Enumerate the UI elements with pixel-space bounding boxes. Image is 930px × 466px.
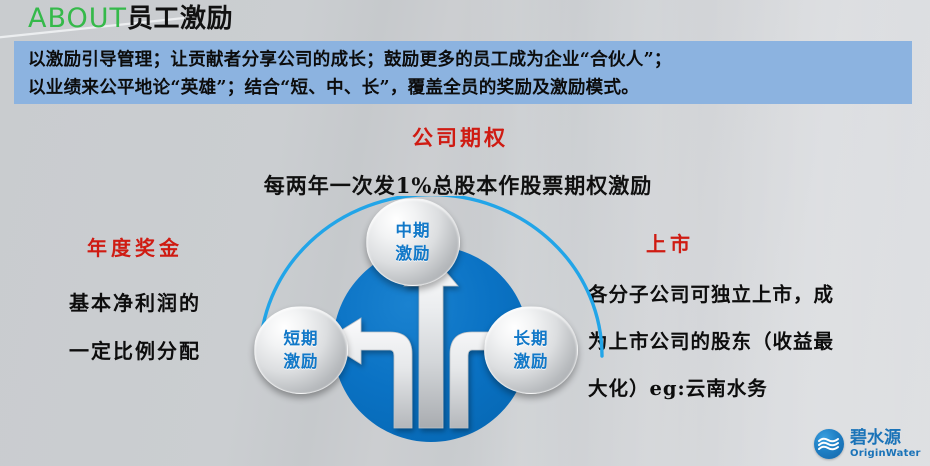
node-long-term-incentive[interactable]: 长期 激励 [484,306,578,394]
node-short-term-line-2: 激励 [284,350,319,373]
brand-name-cn: 碧水源 [850,430,921,447]
left-column-line-2: 一定比例分配 [20,327,250,375]
wave-glyph [818,437,840,452]
statement-panel: 以激励引导管理；让贡献者分享公司的成长；鼓励更多的员工成为企业“合伙人”； 以业… [14,41,912,104]
right-column-line-1: 各分子公司可独立上市，成 [588,271,918,318]
node-mid-term-line-1: 中期 [396,219,431,242]
left-column-line-1: 基本净利润的 [20,279,250,327]
left-column-heading: 年度奖金 [20,232,250,261]
brand-name-en: OriginWater [850,449,921,459]
node-long-term-line-2: 激励 [514,350,549,373]
node-short-term-line-1: 短期 [284,327,319,350]
node-short-term-incentive[interactable]: 短期 激励 [254,306,348,394]
incentive-diagram: 中期 激励 短期 激励 长期 激励 [236,196,626,456]
right-column-line-2: 为上市公司的股东（收益最 [588,318,918,365]
node-long-term-line-1: 长期 [514,327,549,350]
statement-line-2: 以业绩来公平地论“英雄”；结合“短、中、长”，覆盖全员的奖励及激励模式。 [28,74,898,102]
page-title-en: ABOUT [28,3,127,34]
page-title: ABOUT员工激励 [28,2,233,36]
statement-line-1: 以激励引导管理；让贡献者分享公司的成长；鼓励更多的员工成为企业“合伙人”； [28,46,898,74]
left-column: 年度奖金 基本净利润的 一定比例分配 [20,232,250,375]
water-wave-icon [814,429,844,459]
node-mid-term-incentive[interactable]: 中期 激励 [366,198,460,286]
brand-wordmark: 碧水源 OriginWater [850,430,921,459]
page-title-cn: 员工激励 [127,4,233,34]
right-column-heading: 上市 [646,228,918,257]
right-column: 上市 各分子公司可独立上市，成 为上市公司的股东（收益最 大化）eg:云南水务 [588,228,918,412]
center-heading: 公司期权 [0,122,930,152]
right-column-line-3: 大化）eg:云南水务 [588,365,918,412]
node-mid-term-line-2: 激励 [396,242,431,265]
brand-logo: 碧水源 OriginWater [814,427,918,461]
slide-canvas: ABOUT员工激励 以激励引导管理；让贡献者分享公司的成长；鼓励更多的员工成为企… [0,0,930,466]
